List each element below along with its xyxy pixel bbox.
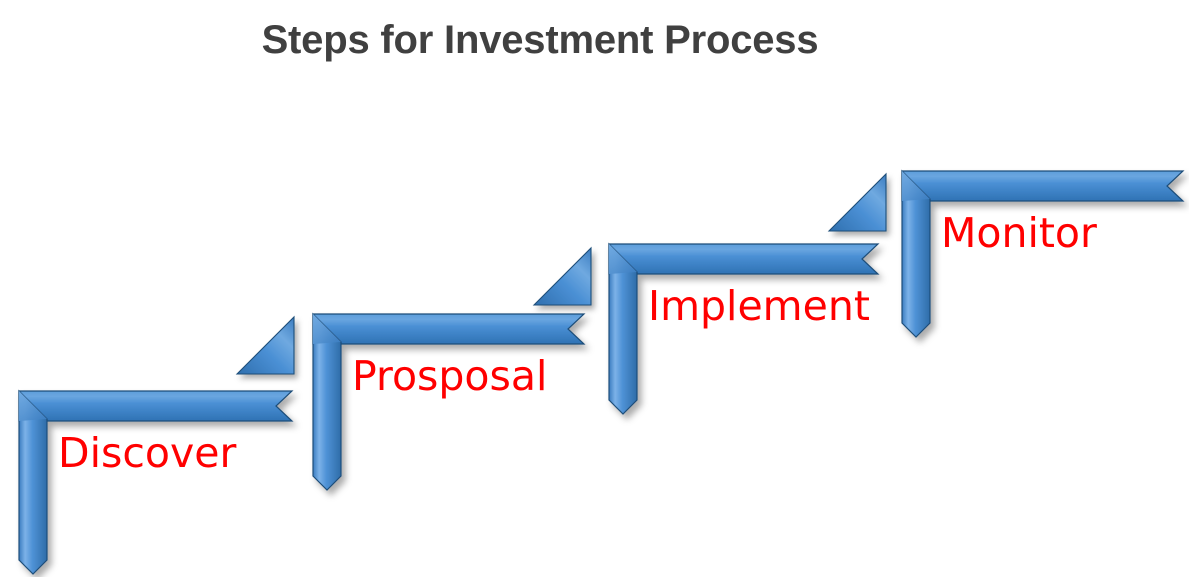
page-title: Steps for Investment Process xyxy=(0,16,1080,64)
step-label-1: Discover xyxy=(58,433,236,474)
ramp-triangle-2 xyxy=(533,247,593,307)
ramp-triangle-3 xyxy=(828,173,888,233)
step-label-4: Monitor xyxy=(941,213,1097,254)
step-label-3: Implement xyxy=(648,286,870,327)
diagram-canvas: Steps for Investment Process xyxy=(0,0,1189,577)
step-shape-1[interactable] xyxy=(18,390,298,575)
step-shape-2[interactable] xyxy=(312,313,592,491)
ramp-triangle-1 xyxy=(236,316,296,376)
step-label-2: Prosposal xyxy=(352,356,547,397)
